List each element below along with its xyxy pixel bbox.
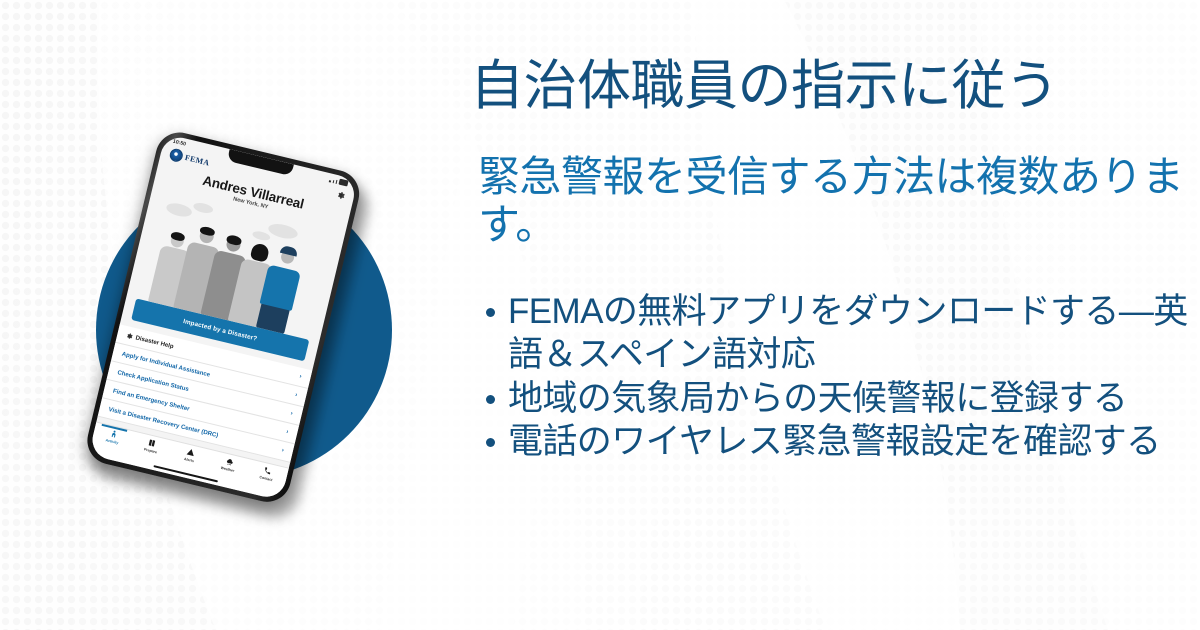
warning-triangle-icon	[186, 448, 196, 458]
signal-icon	[332, 180, 334, 183]
tab-label: Activity	[105, 438, 119, 445]
cloud-rain-icon	[224, 457, 234, 467]
tab-activity[interactable]: Activity	[92, 425, 134, 447]
gear-icon	[126, 332, 134, 340]
tab-label: Prepare	[144, 447, 158, 454]
bullet-list: FEMAの無料アプリをダウンロードする—英語＆スペイン語対応 地域の気象局からの…	[470, 291, 1188, 464]
tab-label: Weather	[220, 465, 235, 472]
gear-icon[interactable]	[336, 190, 346, 200]
text-content-column: 自治体職員の指示に従う 緊急警報を受信する方法は複数あります。 FEMAの無料ア…	[470, 20, 1188, 465]
phone-icon	[263, 466, 273, 476]
tab-alerts[interactable]: Alerts	[169, 444, 211, 466]
tab-prepare[interactable]: Prepare	[131, 435, 173, 457]
cloud-shape	[252, 230, 271, 242]
fema-wordmark: FEMA	[184, 153, 211, 168]
fema-seal-icon	[168, 147, 184, 163]
tab-label: Contact	[259, 475, 273, 482]
book-icon	[147, 438, 157, 448]
signal-icon	[329, 180, 331, 182]
chevron-right-icon: ›	[294, 392, 297, 398]
cloud-shape	[267, 221, 299, 241]
tab-label: Alerts	[184, 457, 195, 463]
chevron-right-icon: ›	[281, 448, 284, 454]
chevron-right-icon: ›	[299, 374, 302, 380]
tab-contact[interactable]: Contact	[246, 462, 288, 484]
subtitle: 緊急警報を受信する方法は複数あります。	[470, 153, 1188, 250]
slide-canvas: 10:50 FEMA	[0, 0, 1200, 630]
chevron-right-icon: ›	[290, 411, 293, 417]
tab-weather[interactable]: Weather	[208, 453, 250, 475]
cloud-shape	[192, 201, 214, 214]
wifi-icon	[335, 180, 337, 184]
chevron-right-icon: ›	[286, 429, 289, 435]
person-icon	[109, 429, 119, 439]
page-title: 自治体職員の指示に従う	[470, 56, 1188, 116]
list-item: FEMAの無料アプリをダウンロードする—英語＆スペイン語対応	[478, 291, 1188, 376]
list-item-label: Disaster Help	[135, 334, 175, 350]
cloud-shape	[165, 201, 193, 219]
list-item: 地域の気象局からの天候警報に登録する	[478, 378, 1188, 421]
list-item: 電話のワイヤレス緊急警報設定を確認する	[478, 421, 1188, 464]
